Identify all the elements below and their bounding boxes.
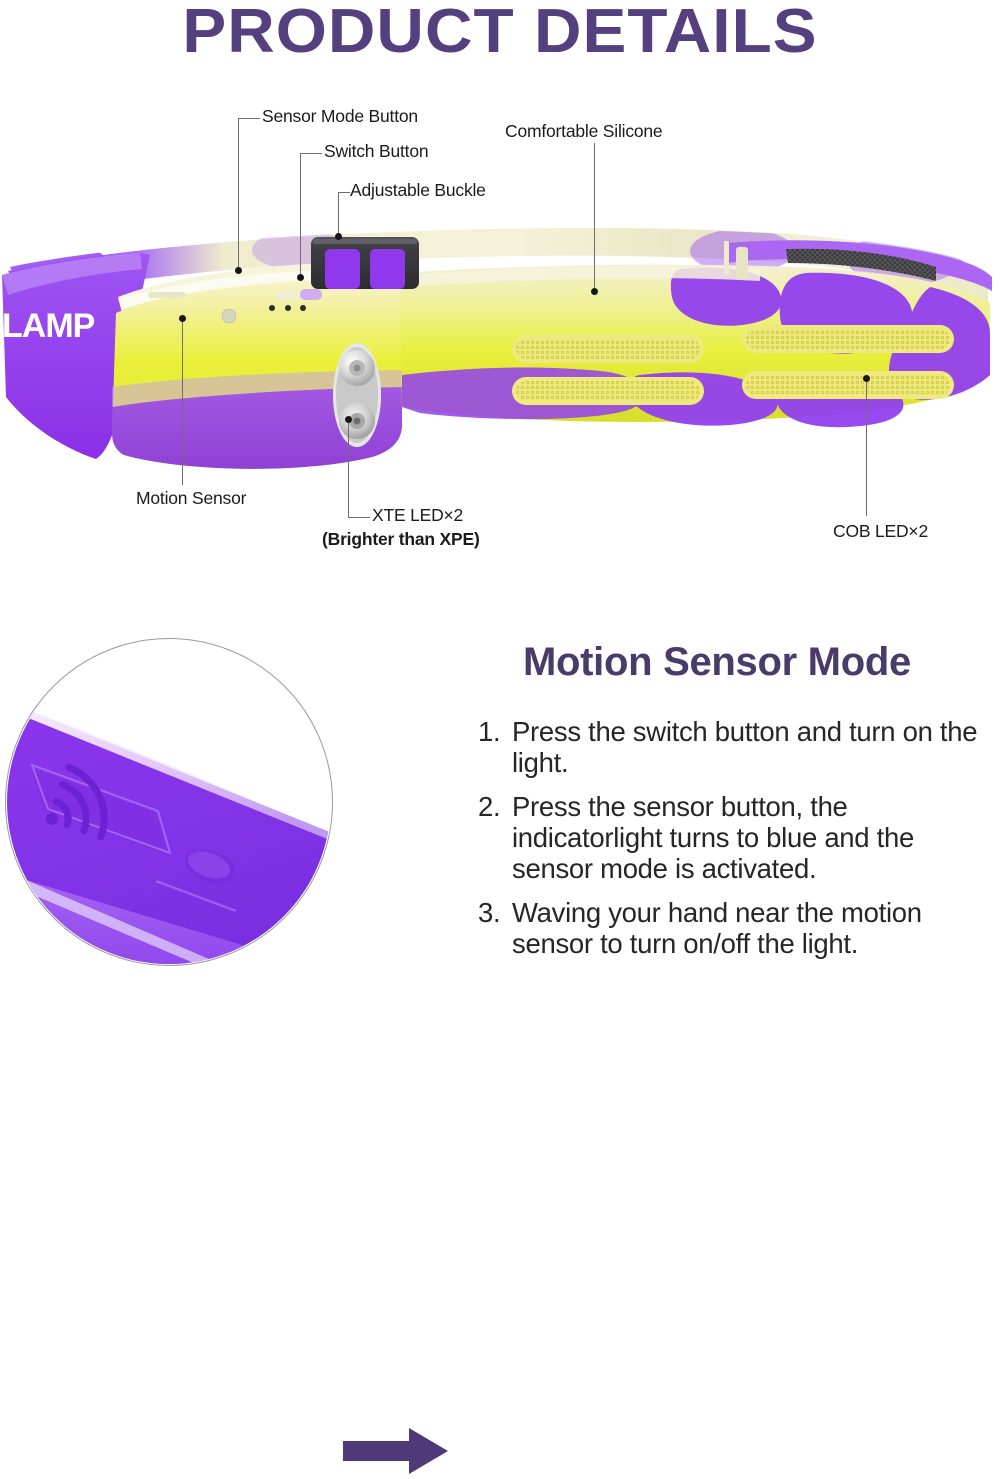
list-item: 1. Press the switch button and turn on t… bbox=[478, 716, 998, 778]
adjustable-buckle-shape bbox=[311, 237, 419, 289]
cob-led-strip-1 bbox=[512, 335, 704, 363]
leader-xte-led-h bbox=[348, 517, 370, 518]
headlamp-body bbox=[112, 263, 402, 469]
callout-adjustable-buckle: Adjustable Buckle bbox=[350, 180, 486, 201]
dot-sensor-mode-button bbox=[235, 267, 242, 274]
list-item-text: Waving your hand near the motion sensor … bbox=[512, 897, 922, 959]
dot-xte-led bbox=[345, 416, 352, 423]
instruction-list: 1. Press the switch button and turn on t… bbox=[478, 716, 998, 972]
arrow-right-icon bbox=[343, 1428, 448, 1479]
leader-adjustable-buckle-v bbox=[338, 192, 339, 236]
callout-xte-led: XTE LED×2 bbox=[372, 505, 463, 526]
leader-motion-sensor-v bbox=[182, 320, 183, 485]
headlamp-strap-right bbox=[400, 265, 990, 428]
callout-cob-led: COB LED×2 bbox=[833, 521, 928, 542]
callout-sensor-mode-button: Sensor Mode Button bbox=[262, 106, 418, 127]
list-item: 3. Waving your hand near the motion sens… bbox=[478, 897, 998, 959]
list-item-number: 3. bbox=[478, 897, 500, 928]
list-item-number: 1. bbox=[478, 716, 500, 747]
callout-xte-led-note: (Brighter than XPE) bbox=[322, 529, 480, 550]
dot-adjustable-buckle bbox=[335, 233, 342, 240]
brand-text: LAMP bbox=[2, 307, 95, 345]
callout-switch-button: Switch Button bbox=[324, 141, 428, 162]
list-item-number: 2. bbox=[478, 791, 500, 822]
list-item: 2. Press the sensor button, the indicato… bbox=[478, 791, 998, 884]
list-item-text: Press the switch button and turn on the … bbox=[512, 716, 977, 778]
sensor-mode-button-shape bbox=[148, 292, 186, 298]
motion-sensor-closeup bbox=[5, 638, 333, 966]
leader-comfortable-silicone-v bbox=[594, 143, 595, 291]
cob-led-strip-3 bbox=[742, 325, 954, 353]
dot-comfortable-silicone bbox=[591, 288, 598, 295]
dot-switch-button bbox=[297, 274, 304, 281]
leader-cob-led-v bbox=[866, 380, 867, 516]
motion-sensor-mode-heading: Motion Sensor Mode bbox=[523, 640, 911, 685]
cob-led-strip-4 bbox=[742, 371, 954, 399]
leader-switch-button-v bbox=[300, 153, 301, 277]
dot-motion-sensor bbox=[179, 315, 186, 322]
leader-sensor-mode-button-h bbox=[238, 118, 260, 119]
list-item-text: Press the sensor button, the indicatorli… bbox=[512, 791, 914, 884]
callout-motion-sensor: Motion Sensor bbox=[136, 488, 246, 509]
motion-sensor-closeup-wrap bbox=[5, 638, 335, 978]
page-title: PRODUCT DETAILS bbox=[0, 0, 1000, 67]
cob-led-strip-2 bbox=[512, 377, 704, 405]
product-illustration: LAMP bbox=[0, 225, 1000, 490]
leader-sensor-mode-button-v bbox=[238, 118, 239, 270]
leader-switch-button-h bbox=[300, 153, 322, 154]
product-details-page: PRODUCT DETAILS bbox=[0, 0, 1000, 980]
callout-comfortable-silicone: Comfortable Silicone bbox=[505, 121, 662, 142]
leader-xte-led-v bbox=[348, 421, 349, 518]
leader-adjustable-buckle-h bbox=[338, 192, 350, 193]
xte-led-housing bbox=[333, 343, 381, 447]
dot-cob-led bbox=[863, 375, 870, 382]
